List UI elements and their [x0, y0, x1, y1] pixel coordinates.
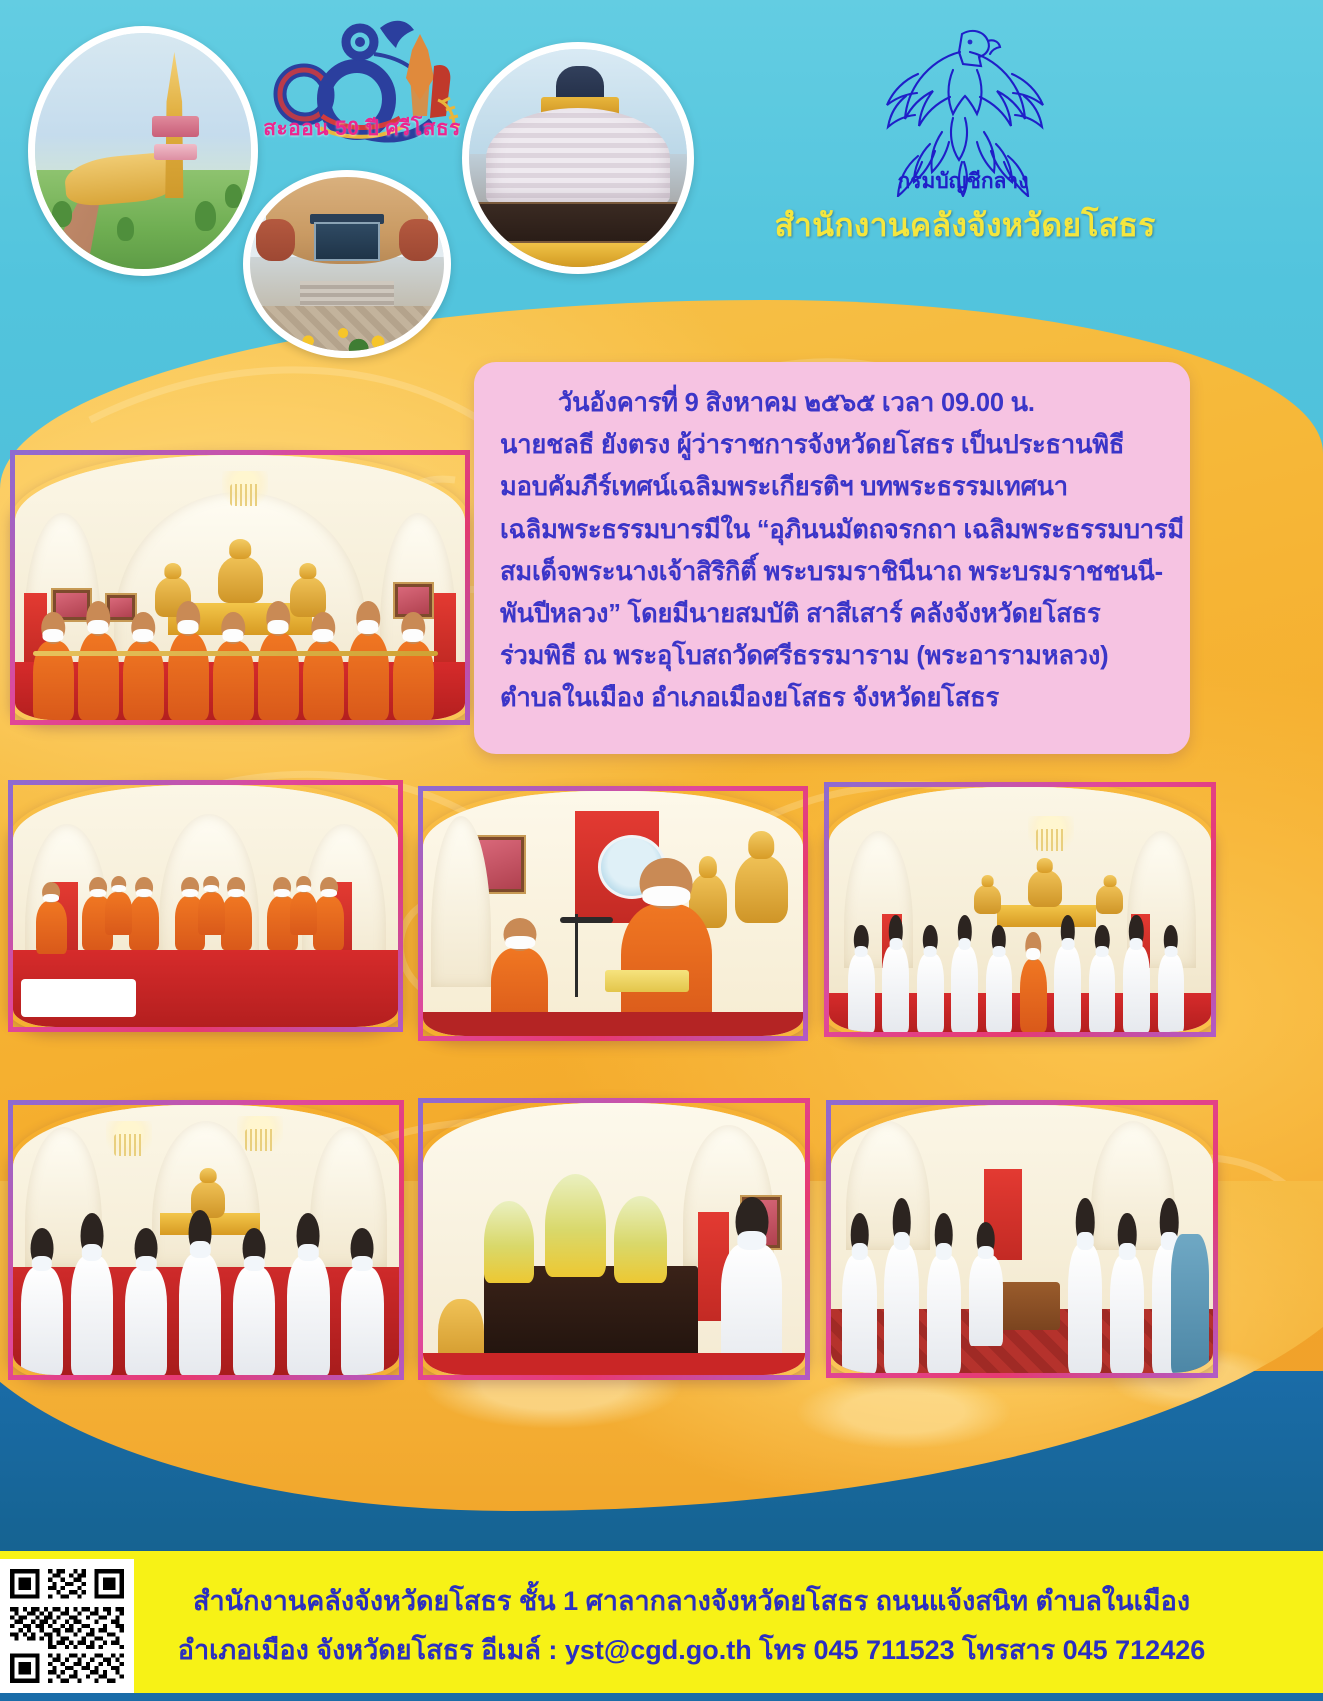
- photo-officials-seated-ceremony: [826, 1100, 1218, 1378]
- photo-monks-group-with-scriptures: [10, 450, 470, 725]
- footer-contact-bar: สำนักงานคลังจังหวัดยโสธร ชั้น 1 ศาลากลาง…: [0, 1551, 1323, 1701]
- announcement-panel: วันอังคารที่ 9 สิงหาคม ๒๕๖๕ เวลา 09.00 น…: [474, 362, 1190, 754]
- photo-officials-group-photo: [824, 782, 1216, 1037]
- announcement-line-2: นายชลธี ยังตรง ผู้ว่าราชการจังหวัดยโสธร …: [500, 424, 1164, 466]
- announcement-line-8: ตำบลในเมือง อำเภอเมืองยโสธร จังหวัดยโสธร: [500, 677, 1164, 719]
- announcement-line-6: พันปีหลวง” โดยมีนายสมบัติ สาสีเสาร์ คลัง…: [500, 593, 1164, 635]
- photo-attendees-praying: [8, 1100, 404, 1380]
- footer-contact-line: อำเภอเมือง จังหวัดยโสธร อีเมล์ : yst@cgd…: [60, 1626, 1323, 1675]
- footer-address-line: สำนักงานคลังจังหวัดยโสธร ชั้น 1 ศาลากลาง…: [60, 1577, 1323, 1626]
- announcement-line-3: มอบคัมภีร์เทศน์เฉลิมพระเกียรติฯ บทพระธรร…: [500, 466, 1164, 508]
- announcement-line-5: สมเด็จพระนางเจ้าสิริกิติ์ พระบรมราชินีนา…: [500, 551, 1164, 593]
- photo-governor-offering-scripture: [418, 1098, 810, 1380]
- photo-monks-seated-assembly: [8, 780, 403, 1032]
- announcement-line-4: เฉลิมพระธรรมบารมีใน “อุภินนมัตถจรกถา เฉล…: [500, 509, 1164, 551]
- photo-monk-preaching-microphone: [418, 786, 808, 1041]
- qr-code[interactable]: [0, 1559, 134, 1693]
- announcement-line-1: วันอังคารที่ 9 สิงหาคม ๒๕๖๕ เวลา 09.00 น…: [500, 382, 1164, 424]
- footer-bottom-rule: [0, 1693, 1323, 1701]
- announcement-line-7: ร่วมพิธี ณ พระอุโบสถวัดศรีธรรมาราม (พระอ…: [500, 635, 1164, 677]
- photo-gallery: [0, 0, 1323, 1701]
